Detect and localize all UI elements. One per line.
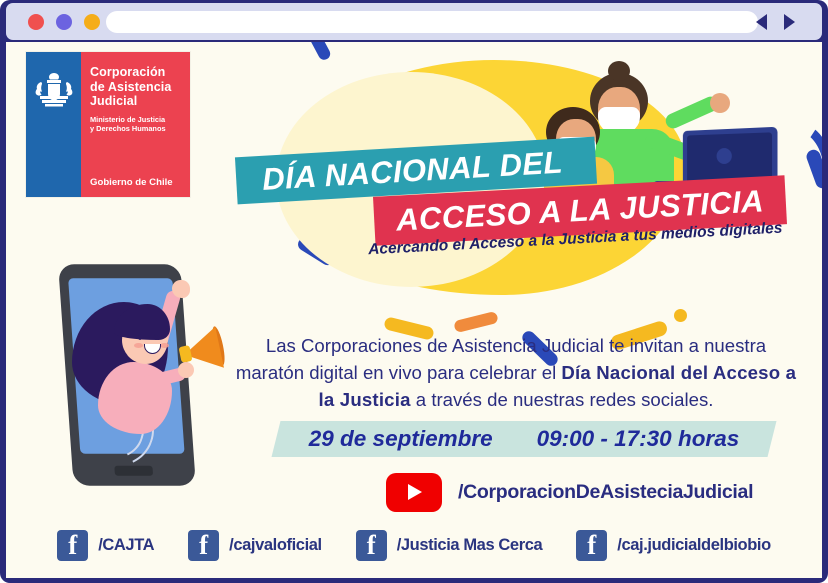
logo-subtitle: Ministerio de Justicia y Derechos Humano… — [90, 115, 184, 134]
intro-paragraph: Las Corporaciones de Asistencia Judicial… — [230, 332, 802, 413]
government-logo: Corporación de Asistencia Judicial Minis… — [26, 52, 190, 197]
logo-subtitle-line-1: Ministerio de Justicia — [90, 115, 184, 124]
logo-subtitle-line-2: y Derechos Humanos — [90, 124, 184, 133]
logo-title: Corporación de Asistencia Judicial — [90, 65, 184, 109]
facebook-icon[interactable] — [356, 530, 387, 561]
logo-blue-panel — [26, 52, 81, 197]
logo-footer: Gobierno de Chile — [90, 177, 173, 188]
facebook-row: /CAJTA /cajvaloficial /Justicia Mas Cerc… — [6, 530, 822, 561]
browser-chrome-bar — [6, 3, 822, 40]
paragraph-part-2: a través de nuestras redes sociales. — [411, 389, 714, 410]
girl-eye-right — [154, 334, 158, 340]
window-minimize-dot[interactable] — [56, 14, 72, 30]
coat-of-arms-icon — [34, 68, 74, 112]
address-bar[interactable] — [106, 11, 758, 33]
facebook-handle-3[interactable]: /Justicia Mas Cerca — [397, 536, 543, 555]
phone-girl-illustration — [54, 254, 229, 504]
facebook-account-1[interactable]: /CAJTA — [57, 530, 154, 561]
event-date: 29 de septiembre — [309, 426, 493, 452]
youtube-row[interactable]: /CorporacionDeAsisteciaJudicial — [386, 473, 753, 512]
facebook-handle-2[interactable]: /cajvaloficial — [229, 536, 322, 555]
forward-arrow-icon[interactable] — [784, 14, 795, 30]
girl-hand-raised — [172, 280, 190, 298]
girl-cheek-right — [160, 343, 169, 348]
facebook-account-3[interactable]: /Justicia Mas Cerca — [356, 530, 543, 561]
laptop-logo-dot — [717, 148, 732, 164]
smartphone-home-button — [114, 466, 153, 476]
event-time: 09:00 - 17:30 horas — [537, 426, 740, 452]
facebook-icon[interactable] — [576, 530, 607, 561]
event-date-banner: 29 de septiembre 09:00 - 17:30 horas — [272, 421, 777, 457]
facebook-handle-4[interactable]: /caj.judicialdelbiobio — [617, 536, 770, 555]
logo-title-line-2: de Asistencia — [90, 80, 184, 95]
confetti-dot-yellow — [674, 309, 687, 322]
youtube-icon[interactable] — [386, 473, 442, 512]
girl-cheek-left — [134, 343, 143, 348]
facebook-account-4[interactable]: /caj.judicialdelbiobio — [576, 530, 770, 561]
window-close-dot[interactable] — [28, 14, 44, 30]
logo-red-panel: Corporación de Asistencia Judicial Minis… — [81, 52, 190, 197]
back-arrow-icon[interactable] — [756, 14, 767, 30]
facebook-handle-1[interactable]: /CAJTA — [98, 536, 154, 555]
girl-hand-holding — [178, 362, 194, 378]
adult-bun — [608, 61, 630, 81]
window-maximize-dot[interactable] — [84, 14, 100, 30]
facebook-icon[interactable] — [188, 530, 219, 561]
adult-hand — [710, 93, 730, 113]
confetti-blue-1 — [306, 42, 333, 62]
page-content: Corporación de Asistencia Judicial Minis… — [6, 42, 822, 578]
girl-eye-left — [138, 334, 142, 340]
facebook-account-2[interactable]: /cajvaloficial — [188, 530, 322, 561]
youtube-handle[interactable]: /CorporacionDeAsisteciaJudicial — [458, 481, 753, 504]
logo-title-line-3: Judicial — [90, 94, 184, 109]
browser-window: Corporación de Asistencia Judicial Minis… — [0, 0, 828, 583]
logo-title-line-1: Corporación — [90, 65, 184, 80]
nav-arrows — [748, 12, 808, 32]
confetti-orange-1 — [453, 311, 499, 333]
facebook-icon[interactable] — [57, 530, 88, 561]
